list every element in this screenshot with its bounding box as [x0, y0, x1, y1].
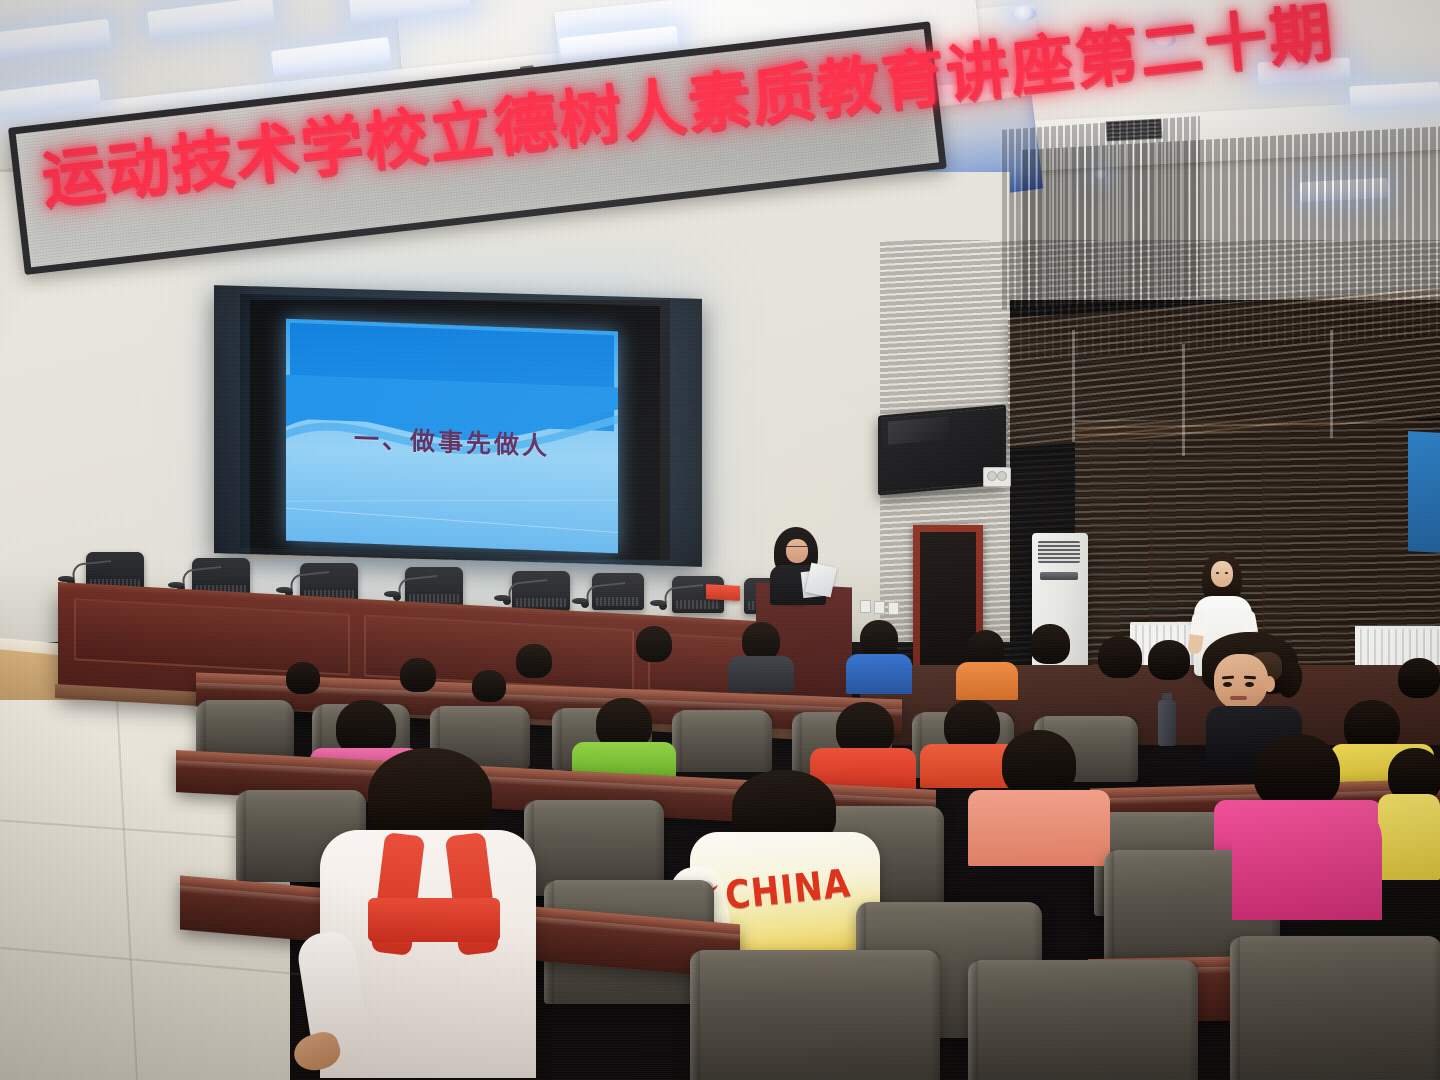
auditorium-seat[interactable]	[672, 710, 772, 772]
audience-child-head	[968, 630, 1004, 666]
audience-child-body	[956, 662, 1018, 700]
presenter-face	[786, 539, 808, 563]
audience-child-head	[472, 670, 506, 702]
audience-child-head	[286, 662, 320, 694]
air-conditioner-panel	[1040, 572, 1078, 580]
audience-child-head	[1398, 658, 1440, 698]
power-outlet[interactable]	[874, 601, 885, 614]
audience-child-head	[636, 626, 672, 662]
presenter-papers	[805, 563, 837, 598]
slide-accent-line	[286, 500, 618, 502]
lecture-hall-photo: 一、做事先做人 运动技术学校立德树人素质教育讲座第二十期	[0, 0, 1440, 1080]
wall-panel-seam	[1182, 344, 1185, 456]
power-outlet[interactable]	[860, 600, 871, 613]
panel-light	[1349, 82, 1440, 109]
child-ear	[1264, 676, 1275, 692]
projection-screen: 一、做事先做人	[286, 319, 618, 554]
audience-child-head	[1254, 734, 1340, 810]
eyeglasses-icon	[786, 546, 808, 551]
audience-child-body	[1232, 800, 1382, 920]
downlight	[1012, 6, 1036, 21]
child-mouth	[1230, 696, 1247, 700]
slide-accent-line	[286, 507, 618, 534]
wall-panel-seam	[1330, 330, 1333, 438]
auditorium-seat[interactable]	[690, 950, 940, 1080]
overall-chest-panel	[368, 898, 500, 942]
audience-child-head	[1002, 730, 1076, 798]
auditorium-seat[interactable]	[968, 960, 1198, 1080]
auditorium-seat[interactable]	[1230, 936, 1440, 1080]
water-bottle[interactable]	[1158, 700, 1176, 746]
seated-presenter	[762, 527, 834, 597]
audience-child-body	[846, 654, 912, 694]
woman-face	[1211, 561, 1233, 587]
audience-child-head	[1148, 640, 1190, 680]
audience-child-head	[400, 658, 436, 692]
audience-child-body	[728, 656, 794, 692]
audience-child-head	[516, 644, 552, 678]
audience-child-head	[742, 622, 780, 660]
audience-child-head	[860, 620, 898, 658]
audience-child-body	[1378, 794, 1440, 880]
child-red-overall	[320, 748, 536, 1078]
audience-child-head	[1098, 636, 1142, 678]
child-face	[1214, 654, 1268, 710]
power-outlet[interactable]	[888, 602, 899, 615]
audience-child-head	[1030, 624, 1070, 664]
wall-control-plate	[983, 467, 1011, 487]
audience-child-body	[968, 790, 1110, 866]
air-conditioner-grille	[1038, 541, 1080, 563]
wall-panel-seam	[1072, 330, 1075, 442]
table-nameplate	[706, 584, 740, 601]
side-display-screen	[1408, 431, 1440, 553]
